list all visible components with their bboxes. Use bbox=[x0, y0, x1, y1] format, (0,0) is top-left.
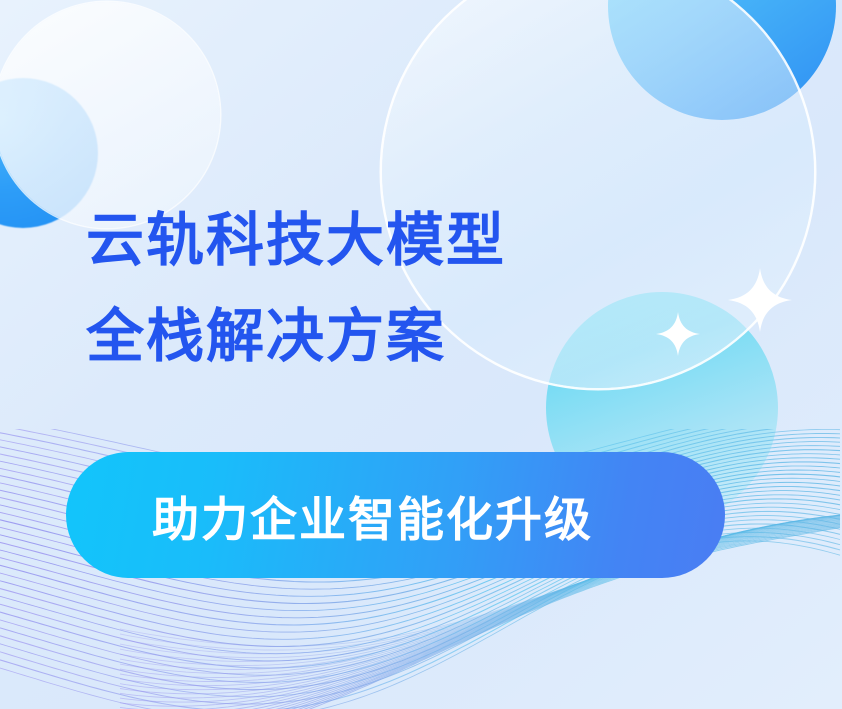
promo-poster: 云轨科技大模型 全栈解决方案 助力企业智能化升级 bbox=[0, 0, 842, 709]
sparkle-icon bbox=[656, 312, 700, 356]
sparkle-icon bbox=[728, 268, 792, 332]
headline-line-2: 全栈解决方案 bbox=[86, 288, 506, 384]
headline: 云轨科技大模型 全栈解决方案 bbox=[86, 192, 506, 384]
headline-line-1: 云轨科技大模型 bbox=[86, 192, 506, 288]
tagline-badge-label: 助力企业智能化升级 bbox=[152, 481, 593, 550]
tagline-badge[interactable]: 助力企业智能化升级 bbox=[66, 452, 725, 578]
